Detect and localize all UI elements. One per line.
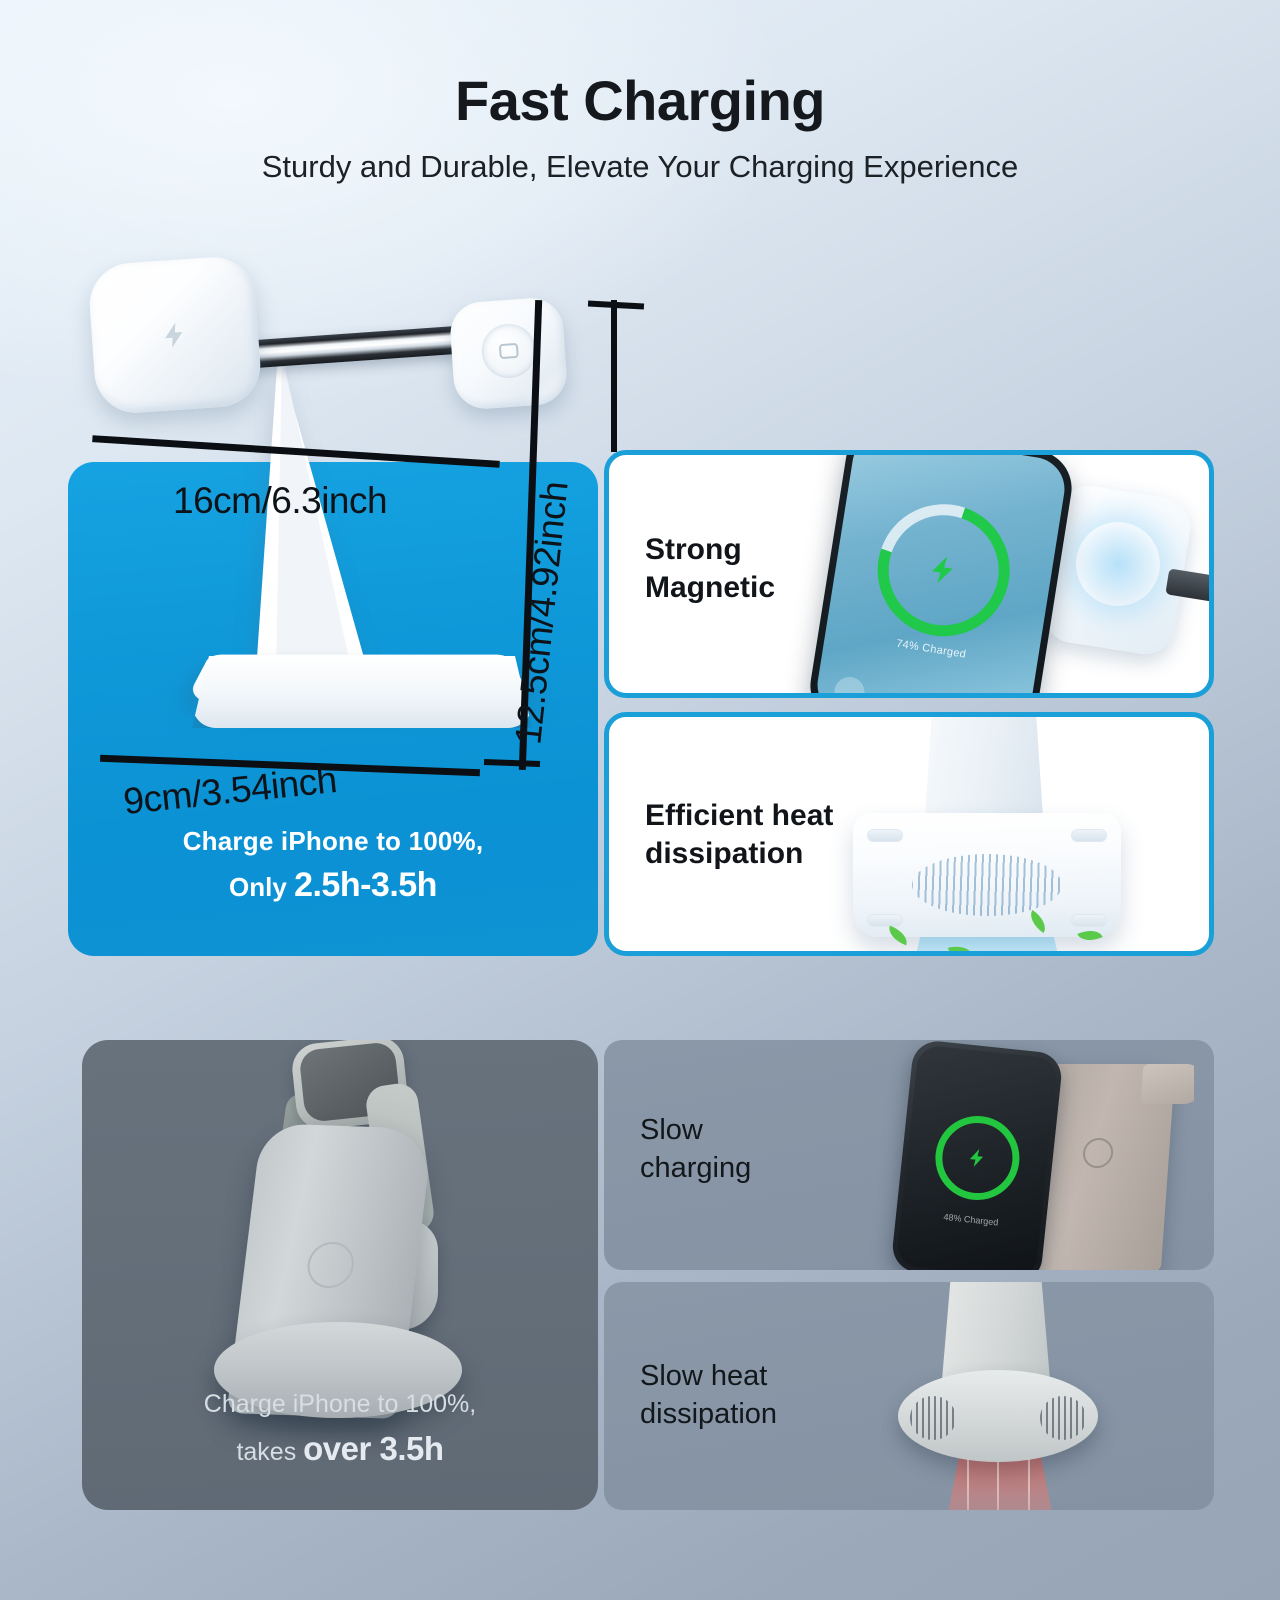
card-slow-charging-label: Slow charging — [640, 1112, 751, 1187]
slow-charge-line-1: Charge iPhone to 100%, — [82, 1390, 598, 1419]
flashlight-icon — [832, 675, 866, 693]
phone-mockup-dark: 48% Charged — [890, 1040, 1063, 1270]
card-slow-heat: Slow heat dissipation — [604, 1282, 1214, 1510]
card-efficient-heat: Efficient heat dissipation — [604, 712, 1214, 956]
card-strong-magnetic-label: Strong Magnetic — [645, 531, 775, 608]
vent-grill-icon — [910, 1396, 956, 1440]
slow-charge-prefix: takes — [236, 1438, 303, 1466]
stand-neck — [925, 717, 1043, 817]
watch-charger-pad — [448, 296, 568, 411]
card-slow-charging: Slow charging 48% Charged — [604, 1040, 1214, 1270]
stand-neck-gray — [942, 1282, 1050, 1380]
battery-status-text: 48% Charged — [901, 1208, 1041, 1233]
slow-charge-line-2: takes over 3.5h — [82, 1430, 598, 1468]
card-strong-magnetic: Strong Magnetic 74% Charged — [604, 450, 1214, 698]
fast-charge-prefix: Only — [229, 872, 294, 902]
vent-grill-icon — [1040, 1396, 1086, 1440]
slow-product-panel: Charge iPhone to 100%, takes over 3.5h — [82, 1040, 598, 1510]
card-slow-heat-label: Slow heat dissipation — [640, 1358, 777, 1433]
phone-screen: 74% Charged — [813, 455, 1069, 693]
fast-charge-time: 2.5h-3.5h — [294, 866, 437, 904]
lightning-bolt-icon — [965, 1142, 990, 1174]
dimension-rule-height-upper — [611, 300, 617, 452]
fast-charge-line-2: Only 2.5h-3.5h — [68, 866, 598, 905]
magsafe-pad — [87, 254, 263, 415]
charger-base-body — [853, 813, 1121, 937]
lightning-bolt-icon — [923, 545, 964, 596]
dimension-width-label: 16cm/6.3inch — [173, 480, 387, 522]
vent-grill-icon — [912, 854, 1062, 916]
slow-charging-illustration: 48% Charged — [844, 1040, 1194, 1270]
heat-dissipation-illustration — [783, 717, 1203, 951]
dimension-depth-label: 9cm/3.54inch — [121, 759, 338, 823]
phone-screen-dark: 48% Charged — [896, 1044, 1058, 1270]
slow-charge-time: over 3.5h — [303, 1430, 443, 1467]
lightning-bolt-icon — [159, 317, 191, 353]
phone-mockup: 74% Charged — [805, 455, 1077, 693]
competitor-stand-illustration — [152, 1040, 512, 1408]
rubber-foot — [867, 914, 903, 927]
slow-heat-illustration — [844, 1282, 1174, 1510]
charger-base-gray — [898, 1370, 1098, 1462]
rubber-foot — [867, 829, 903, 842]
watch-puck-icon — [480, 323, 538, 381]
magnetic-illustration: 74% Charged — [779, 455, 1209, 693]
stand-base — [192, 656, 532, 728]
fast-charging-section: 16cm/6.3inch 9cm/3.54inch 12.5cm/4.92inc… — [0, 0, 1280, 1000]
dimension-height-wrap: 12.5cm/4.92inch — [500, 462, 560, 792]
rubber-foot — [1071, 914, 1107, 927]
rubber-foot — [1071, 829, 1107, 842]
fast-charge-line-1: Charge iPhone to 100%, — [68, 826, 598, 857]
